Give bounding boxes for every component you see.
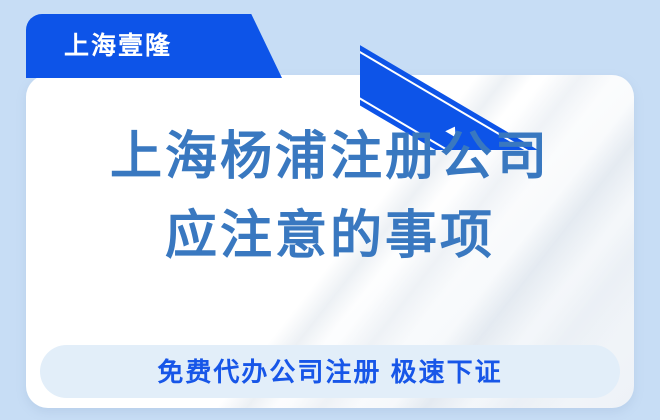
page-title-line-1: 上海杨浦注册公司 [26, 118, 634, 197]
footer-promo-pill: 免费代办公司注册 极速下证 [40, 345, 620, 398]
page-title-line-2: 应注意的事项 [26, 197, 634, 276]
footer-promo-label: 免费代办公司注册 极速下证 [157, 359, 502, 385]
page-title: 上海杨浦注册公司 应注意的事项 [26, 118, 634, 276]
poster-canvas: 上海壹隆 不成功 不收费 上海杨浦注册公司 应注意的事项 免费代办公司注册 极速… [0, 0, 660, 420]
brand-name-label: 上海壹隆 [64, 34, 172, 59]
brand-tab-content: 上海壹隆 [26, 14, 282, 78]
